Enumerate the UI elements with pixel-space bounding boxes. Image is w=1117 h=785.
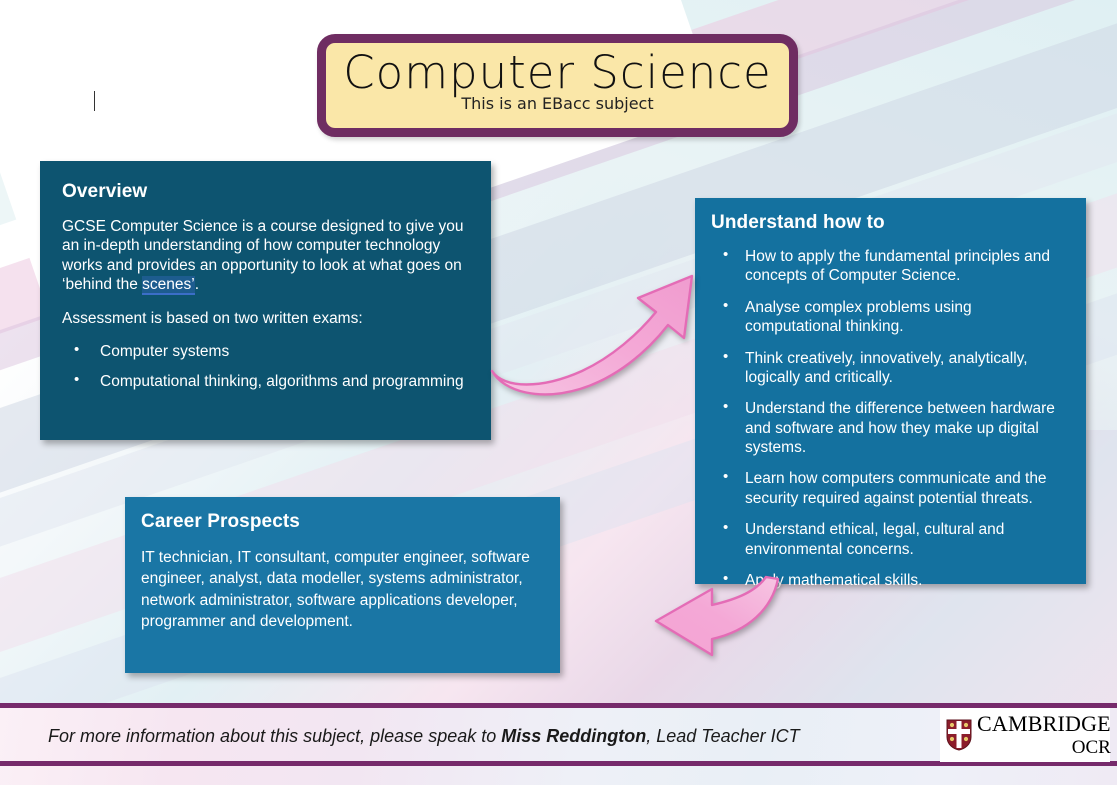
list-item: Computational thinking, algorithms and p… <box>100 372 469 391</box>
logo-ocr-text: OCR <box>977 738 1111 757</box>
list-item: Understand ethical, legal, cultural and … <box>745 520 1068 559</box>
list-item: Computer systems <box>100 342 469 361</box>
understand-bullet-list: How to apply the fundamental principles … <box>711 247 1068 590</box>
text-caret <box>94 91 95 111</box>
overview-paragraph-1: GCSE Computer Science is a course design… <box>62 217 469 295</box>
footer-contact-text: For more information about this subject,… <box>48 726 800 747</box>
title-banner: Computer Science This is an EBacc subjec… <box>317 34 798 137</box>
cambridge-ocr-logo: CAMBRIDGE OCR <box>940 708 1110 762</box>
overview-heading: Overview <box>62 181 469 203</box>
career-prospects-panel: Career Prospects IT technician, IT consu… <box>125 497 560 673</box>
overview-paragraph-1-tail: . <box>195 276 199 293</box>
spellcheck-flagged-word[interactable]: scenes’ <box>142 276 195 295</box>
overview-panel: Overview GCSE Computer Science is a cour… <box>40 161 491 440</box>
overview-paragraph-1-text: GCSE Computer Science is a course design… <box>62 218 464 293</box>
understand-how-to-panel: Understand how to How to apply the funda… <box>695 198 1086 584</box>
overview-bullet-list: Computer systems Computational thinking,… <box>62 342 469 392</box>
footer-text-before: For more information about this subject,… <box>48 726 501 746</box>
logo-cambridge-text: CAMBRIDGE <box>977 713 1111 735</box>
list-item: Think creatively, innovatively, analytic… <box>745 349 1068 388</box>
footer-text-after: , Lead Teacher ICT <box>646 726 799 746</box>
overview-paragraph-2: Assessment is based on two written exams… <box>62 309 469 328</box>
list-item: How to apply the fundamental principles … <box>745 247 1068 286</box>
logo-wordmark: CAMBRIDGE OCR <box>977 713 1111 757</box>
understand-heading: Understand how to <box>711 212 1068 234</box>
slide-canvas: Computer Science This is an EBacc subjec… <box>0 0 1117 785</box>
list-item: Understand the difference between hardwa… <box>745 399 1068 457</box>
list-item: Learn how computers communicate and the … <box>745 469 1068 508</box>
footer-contact-name: Miss Reddington <box>501 726 646 746</box>
list-item: Apply mathematical skills. <box>745 571 1068 590</box>
list-item: Analyse complex problems using computati… <box>745 298 1068 337</box>
cambridge-crest-icon <box>946 719 972 751</box>
career-heading: Career Prospects <box>141 511 542 533</box>
career-body-text: IT technician, IT consultant, computer e… <box>141 547 542 633</box>
page-title: Computer Science <box>326 49 789 96</box>
